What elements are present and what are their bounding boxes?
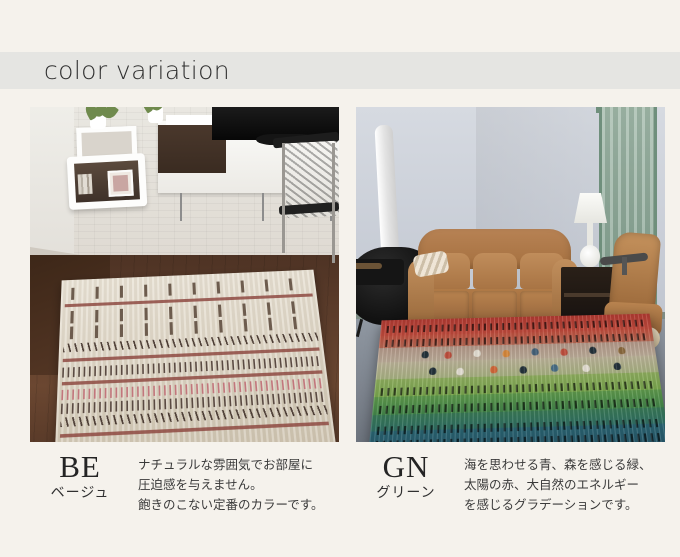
gn-rug-animal-motif (618, 347, 626, 354)
description-gn-line-3: を感じるグラデーションです。 (464, 495, 665, 515)
caption-gn: GN グリーン 海を思わせる青、森を感じる緑、 太陽の赤、大自然のエネルギー を… (356, 449, 665, 515)
gn-rug-animal-motif (613, 363, 621, 371)
gn-armchair-post (622, 257, 627, 275)
gn-armchair-back (609, 231, 662, 313)
color-panel-be[interactable]: BE ベージュ ナチュラルな雰囲気でお部屋に 圧迫感を与えません。 飽きのこない… (30, 107, 339, 527)
gn-rug-animal-motif (444, 351, 452, 358)
gn-rug-animal-motif (582, 364, 590, 372)
gn-rug-animal-motif (589, 347, 597, 354)
gn-rug-animal-motif (473, 350, 480, 357)
color-name-be-label: ベージュ (30, 484, 130, 503)
gn-rug-animal-motif (519, 366, 527, 374)
photo-gn (356, 107, 665, 442)
gn-rug-animal-motif (490, 366, 497, 374)
color-variation-panels: BE ベージュ ナチュラルな雰囲気でお部屋に 圧迫感を与えません。 飽きのこない… (0, 107, 680, 527)
color-name-gn-label: グリーン (356, 484, 456, 503)
be-chair-leg (282, 143, 285, 253)
caption-be: BE ベージュ ナチュラルな雰囲気でお部屋に 圧迫感を与えません。 飽きのこない… (30, 449, 339, 515)
gn-firewood (356, 263, 382, 269)
description-be-line-2: 圧迫感を与えません。 (138, 475, 339, 495)
photo-be (30, 107, 339, 442)
gn-rug-animal-motif (551, 364, 559, 372)
gn-lamp-base (580, 245, 600, 267)
color-code-be: BE ベージュ (30, 449, 130, 503)
gn-rug-animal-motif (531, 348, 539, 355)
be-shelf-lower (67, 153, 148, 210)
be-rug (54, 270, 336, 442)
gn-sofa-back-cushion (473, 253, 517, 289)
color-panel-gn[interactable]: GN グリーン 海を思わせる青、森を感じる緑、 太陽の赤、大自然のエネルギー を… (356, 107, 665, 527)
be-picture-frame-image (113, 175, 129, 192)
description-gn: 海を思わせる青、森を感じる緑、 太陽の赤、大自然のエネルギー を感じるグラデーシ… (464, 449, 665, 515)
be-picture-frame (107, 170, 133, 197)
color-code-gn-label: GN (356, 450, 456, 483)
gn-rug-animal-motif (456, 368, 464, 376)
description-be-line-3: 飽きのこない定番のカラーです。 (138, 495, 339, 515)
color-code-gn: GN グリーン (356, 449, 456, 503)
description-gn-line-2: 太陽の赤、大自然のエネルギー (464, 475, 665, 495)
page-title: color variation (44, 51, 230, 91)
be-chair-leg (332, 143, 335, 263)
gn-rug-animal-motif (429, 367, 437, 375)
description-gn-line-1: 海を思わせる青、森を感じる緑、 (464, 455, 665, 475)
gn-rug (366, 314, 665, 442)
gn-rug-animal-motif (502, 350, 509, 357)
be-books (78, 174, 93, 195)
gn-rug-animal-motif (560, 348, 568, 355)
be-tv-unit-leg (262, 193, 264, 221)
color-code-be-label: BE (30, 450, 130, 483)
be-tv-unit-leg (180, 193, 182, 221)
description-be: ナチュラルな雰囲気でお部屋に 圧迫感を与えません。 飽きのこない定番のカラーです… (138, 449, 339, 515)
gn-rug-animal-motif (421, 351, 429, 358)
description-be-line-1: ナチュラルな雰囲気でお部屋に (138, 455, 339, 475)
